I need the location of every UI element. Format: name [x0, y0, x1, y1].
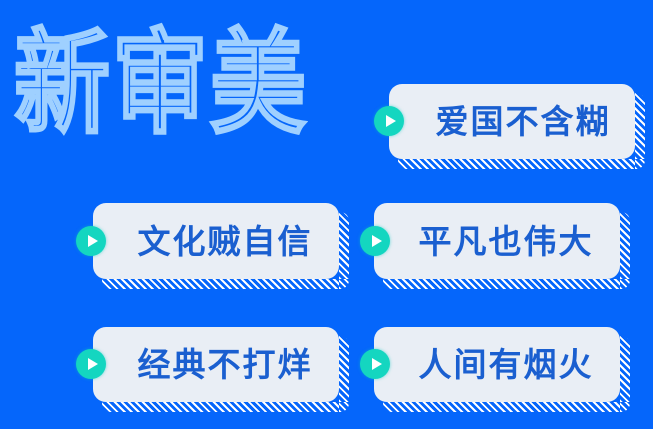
feature-card[interactable]: 人间有烟火 [374, 327, 620, 402]
card-hatch-shadow-right [620, 336, 630, 402]
card-hatch-shadow-bottom [102, 402, 339, 412]
card-hatch-shadow-right [620, 212, 630, 279]
play-icon[interactable] [360, 349, 390, 379]
page-title: 新审美 [14, 27, 308, 140]
card-hatch-shadow-bottom [398, 159, 635, 169]
play-triangle-icon [386, 115, 396, 127]
card-hatch-shadow-bottom [383, 279, 620, 289]
poster-canvas: 新审美 爱国不含糊 文化贼自信 平凡也伟大 经典不打烊 [0, 0, 653, 429]
card-hatch-shadow-right [339, 212, 349, 279]
card-hatch-shadow-corner [339, 402, 349, 412]
card-hatch-shadow-right [339, 336, 349, 402]
feature-card-label: 平凡也伟大 [401, 225, 594, 258]
card-hatch-shadow-corner [620, 402, 630, 412]
play-triangle-icon [88, 235, 98, 247]
feature-card[interactable]: 平凡也伟大 [374, 203, 620, 279]
feature-card[interactable]: 文化贼自信 [93, 203, 339, 279]
play-icon[interactable] [360, 226, 390, 256]
feature-card-label: 文化贼自信 [120, 225, 313, 258]
card-hatch-shadow-corner [339, 279, 349, 289]
card-hatch-shadow-right [635, 93, 645, 159]
play-icon[interactable] [76, 226, 106, 256]
play-triangle-icon [372, 358, 382, 370]
play-triangle-icon [88, 358, 98, 370]
page-title-text: 新审美 [14, 27, 308, 140]
feature-card-label: 爱国不含糊 [414, 105, 611, 138]
feature-card-label: 人间有烟火 [401, 348, 594, 381]
play-icon[interactable] [76, 349, 106, 379]
card-hatch-shadow-bottom [102, 279, 339, 289]
feature-card[interactable]: 爱国不含糊 [389, 84, 635, 159]
feature-card-label: 经典不打烊 [120, 348, 313, 381]
card-hatch-shadow-corner [620, 279, 630, 289]
feature-card[interactable]: 经典不打烊 [93, 327, 339, 402]
card-hatch-shadow-corner [635, 159, 645, 169]
card-hatch-shadow-bottom [383, 402, 620, 412]
play-triangle-icon [372, 235, 382, 247]
play-icon[interactable] [374, 106, 404, 136]
